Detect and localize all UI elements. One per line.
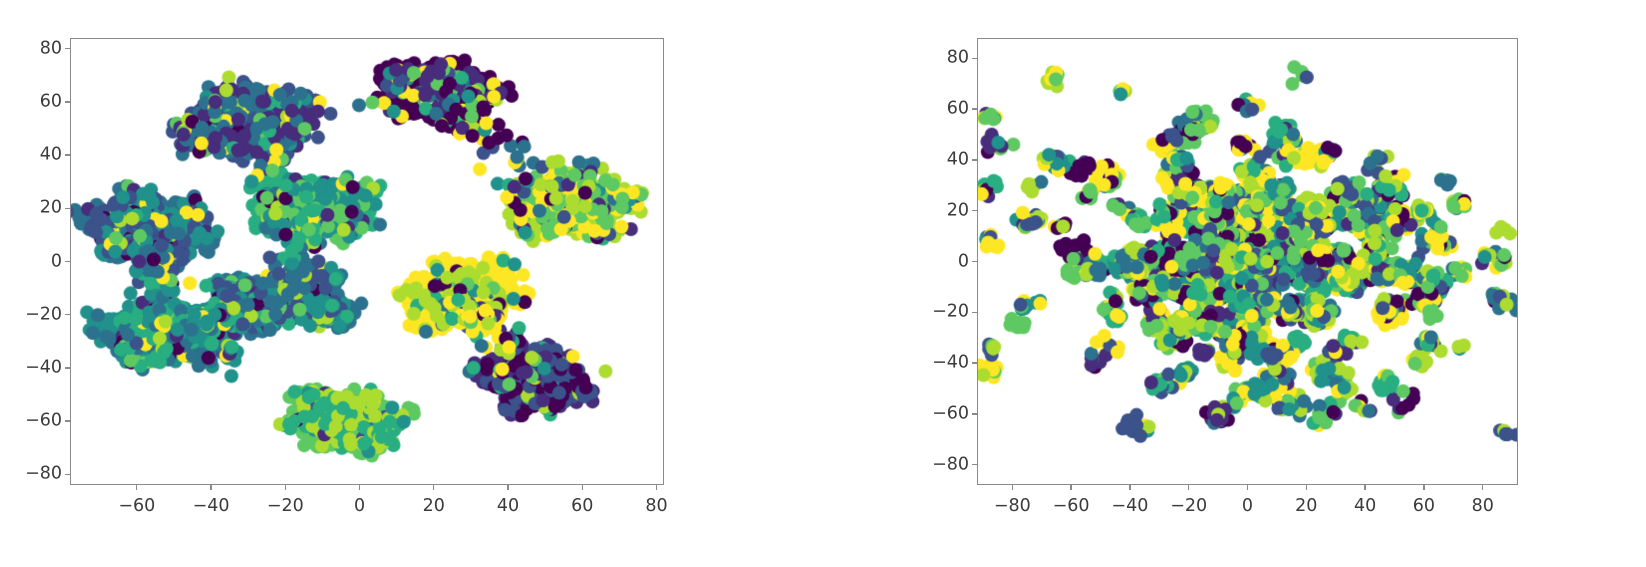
y-tick-label: −60	[917, 405, 969, 423]
y-tick-label: 20	[10, 200, 62, 218]
x-tick-label: −40	[1111, 498, 1148, 516]
y-tick-label: 40	[10, 146, 62, 164]
y-tick-mark	[65, 367, 70, 368]
y-tick-mark	[65, 314, 70, 315]
x-tick-mark	[656, 485, 657, 490]
x-tick-label: 60	[571, 498, 593, 516]
y-tick-label: −20	[10, 306, 62, 324]
y-tick-label: 20	[917, 202, 969, 220]
y-tick-mark	[65, 101, 70, 102]
x-tick-mark	[582, 485, 583, 490]
x-tick-mark	[285, 485, 286, 490]
x-tick-label: −60	[1053, 498, 1090, 516]
y-tick-mark	[972, 159, 977, 160]
scatter-canvas-left	[71, 39, 663, 484]
x-tick-mark	[1482, 485, 1483, 490]
y-tick-mark	[65, 420, 70, 421]
axes-frame-left	[70, 38, 664, 485]
x-tick-label: −60	[118, 498, 155, 516]
y-tick-mark	[65, 48, 70, 49]
y-tick-label: 40	[917, 151, 969, 169]
x-tick-label: 40	[497, 498, 519, 516]
y-tick-label: 0	[917, 253, 969, 271]
x-tick-label: −20	[267, 498, 304, 516]
y-tick-mark	[972, 210, 977, 211]
y-tick-mark	[65, 154, 70, 155]
panel-right-tsne: −80−60−40−20020406080−80−60−40−200204060…	[826, 0, 1646, 567]
x-tick-mark	[433, 485, 434, 490]
x-tick-mark	[210, 485, 211, 490]
y-tick-label: 0	[10, 253, 62, 271]
x-tick-mark	[1364, 485, 1365, 490]
x-tick-label: 0	[1242, 498, 1253, 516]
y-tick-label: −80	[10, 466, 62, 484]
y-tick-mark	[972, 464, 977, 465]
y-tick-mark	[972, 362, 977, 363]
x-tick-mark	[1247, 485, 1248, 490]
y-tick-label: −40	[10, 359, 62, 377]
y-tick-mark	[972, 413, 977, 414]
y-tick-label: −20	[917, 304, 969, 322]
figure-two-panel-scatter: −80−60−40−20020406080−60−40−20020406080 …	[0, 0, 1646, 567]
y-tick-label: 60	[917, 100, 969, 118]
y-tick-mark	[972, 108, 977, 109]
y-tick-label: −60	[10, 412, 62, 430]
x-tick-label: 20	[423, 498, 445, 516]
y-tick-label: −80	[917, 456, 969, 474]
y-tick-label: −40	[917, 354, 969, 372]
x-tick-label: 20	[1295, 498, 1317, 516]
y-tick-mark	[65, 261, 70, 262]
y-tick-label: 80	[10, 40, 62, 58]
axes-frame-right	[977, 38, 1518, 485]
y-tick-mark	[65, 474, 70, 475]
x-tick-mark	[507, 485, 508, 490]
x-tick-label: 60	[1413, 498, 1435, 516]
x-tick-label: 80	[645, 498, 667, 516]
x-tick-label: −80	[994, 498, 1031, 516]
x-tick-label: 40	[1354, 498, 1376, 516]
panel-left-tsne: −80−60−40−20020406080−60−40−20020406080	[0, 0, 820, 567]
x-tick-mark	[1188, 485, 1189, 490]
scatter-canvas-right	[978, 39, 1517, 484]
x-tick-mark	[359, 485, 360, 490]
y-tick-label: 60	[10, 93, 62, 111]
y-tick-mark	[972, 261, 977, 262]
x-tick-label: 80	[1472, 498, 1494, 516]
y-tick-mark	[972, 58, 977, 59]
x-tick-mark	[1129, 485, 1130, 490]
x-tick-label: 0	[354, 498, 365, 516]
x-tick-mark	[1306, 485, 1307, 490]
x-tick-mark	[136, 485, 137, 490]
x-tick-mark	[1423, 485, 1424, 490]
x-tick-label: −40	[193, 498, 230, 516]
y-tick-label: 80	[917, 50, 969, 68]
x-tick-mark	[1012, 485, 1013, 490]
y-tick-mark	[65, 208, 70, 209]
x-tick-mark	[1070, 485, 1071, 490]
x-tick-label: −20	[1170, 498, 1207, 516]
y-tick-mark	[972, 312, 977, 313]
